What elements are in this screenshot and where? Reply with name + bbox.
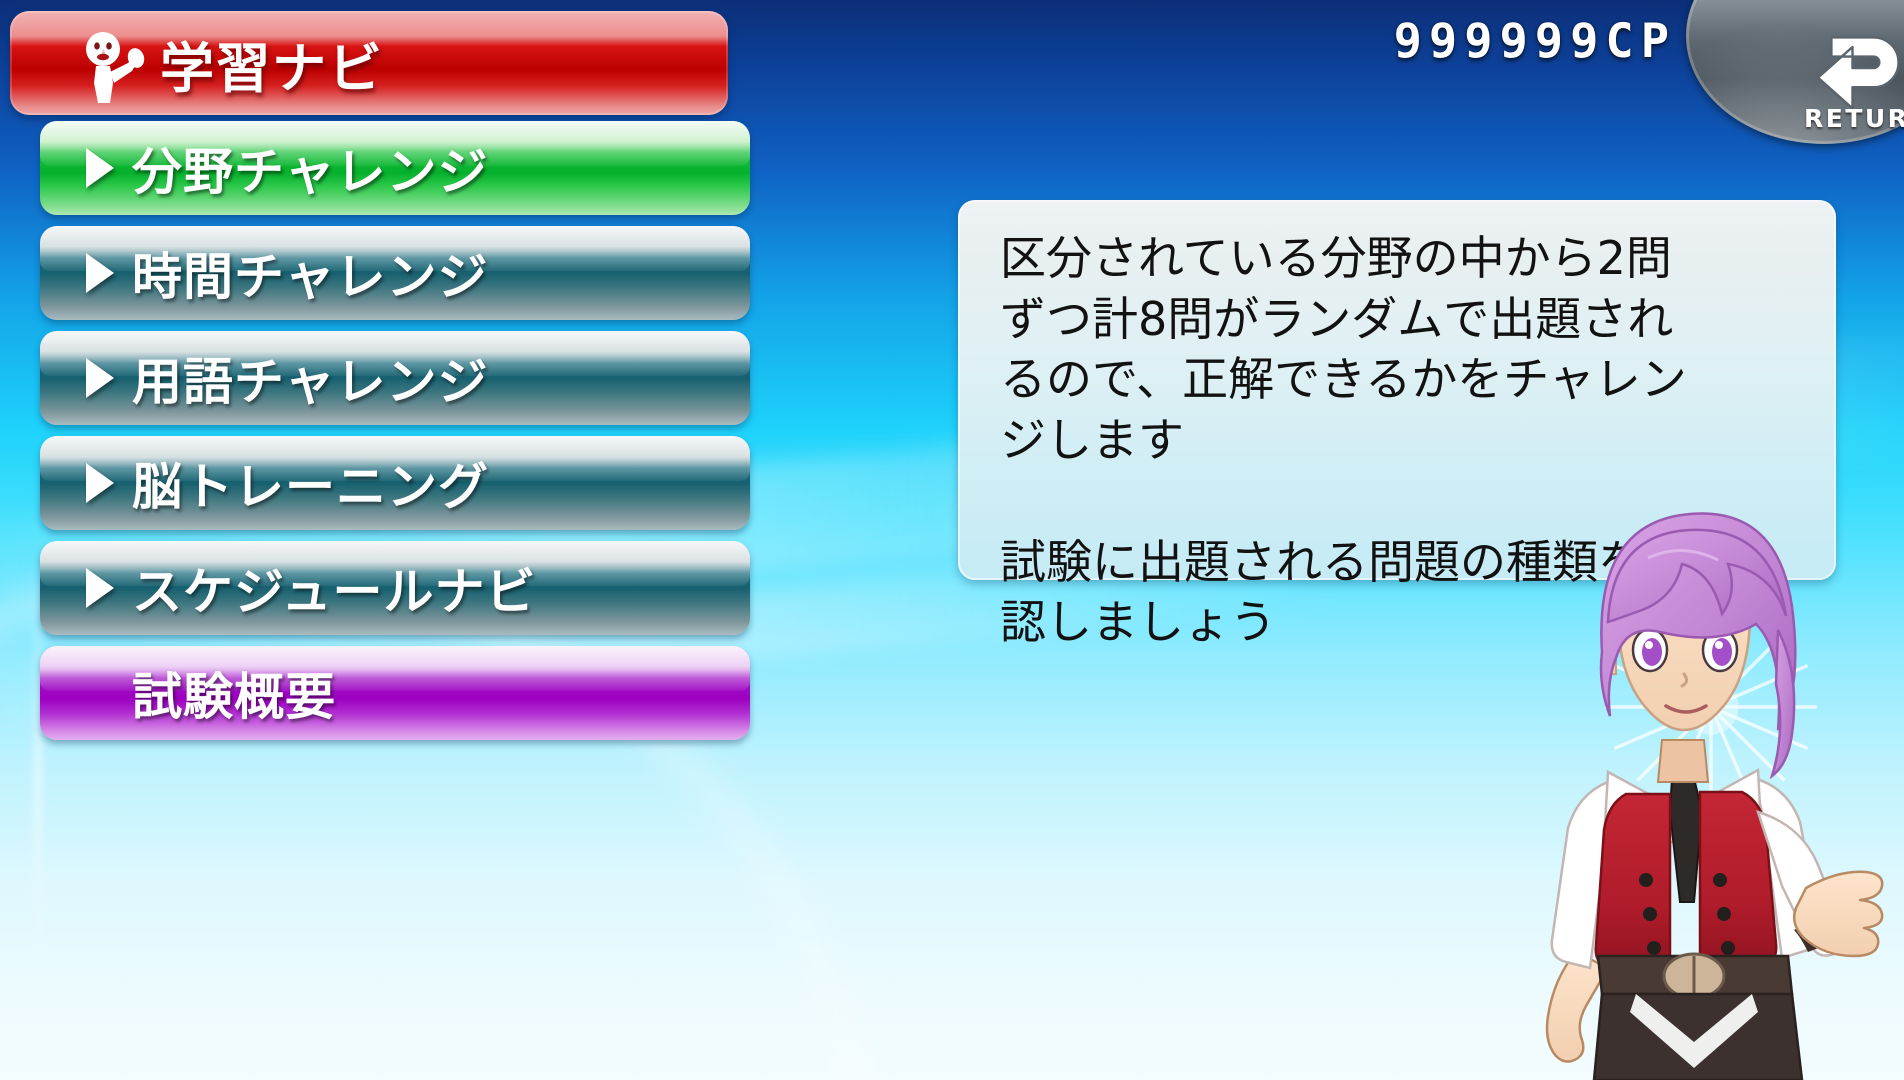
menu-item-label: スケジュールナビ xyxy=(132,552,537,624)
menu-item-row: 試験概要 xyxy=(40,646,750,740)
background-arc-glow xyxy=(0,560,882,1080)
play-arrow-icon xyxy=(86,253,114,293)
return-button[interactable]: RETURN xyxy=(1686,0,1904,144)
menu-item-2[interactable]: 時間チャレンジ xyxy=(40,226,750,320)
menu-item-row: 時間チャレンジ xyxy=(40,226,750,320)
menu-item-row: 脳トレーニング xyxy=(40,436,750,530)
menu-item-6[interactable]: 試験概要 xyxy=(40,646,750,740)
page-title-bar: 学習ナビ xyxy=(10,11,728,115)
navigator-character-icon xyxy=(72,27,156,105)
menu-item-label: 試験概要 xyxy=(132,657,336,729)
play-arrow-icon xyxy=(86,568,114,608)
menu-item-3[interactable]: 用語チャレンジ xyxy=(40,331,750,425)
menu-item-row: 用語チャレンジ xyxy=(40,331,750,425)
return-arrow-icon xyxy=(1816,24,1904,116)
menu-item-label: 用語チャレンジ xyxy=(132,342,489,414)
menu-item-label: 分野チャレンジ xyxy=(132,132,489,204)
play-arrow-icon xyxy=(86,463,114,503)
play-arrow-icon xyxy=(86,148,114,188)
menu-item-1[interactable]: 分野チャレンジ xyxy=(40,121,750,215)
game-screen: 999999CP RETURN xyxy=(0,0,1904,1080)
menu-item-5[interactable]: スケジュールナビ xyxy=(40,541,750,635)
menu-item-label: 脳トレーニング xyxy=(132,447,489,519)
guide-character-illustration xyxy=(1458,482,1904,1080)
menu-item-row: 分野チャレンジ xyxy=(40,121,750,215)
play-arrow-icon xyxy=(86,358,114,398)
menu-item-4[interactable]: 脳トレーニング xyxy=(40,436,750,530)
points-counter: 999999CP xyxy=(1394,14,1676,69)
menu-item-label: 時間チャレンジ xyxy=(132,237,489,309)
page-title: 学習ナビ xyxy=(160,11,384,115)
return-button-label: RETURN xyxy=(1804,104,1904,133)
menu-item-row: スケジュールナビ xyxy=(40,541,750,635)
